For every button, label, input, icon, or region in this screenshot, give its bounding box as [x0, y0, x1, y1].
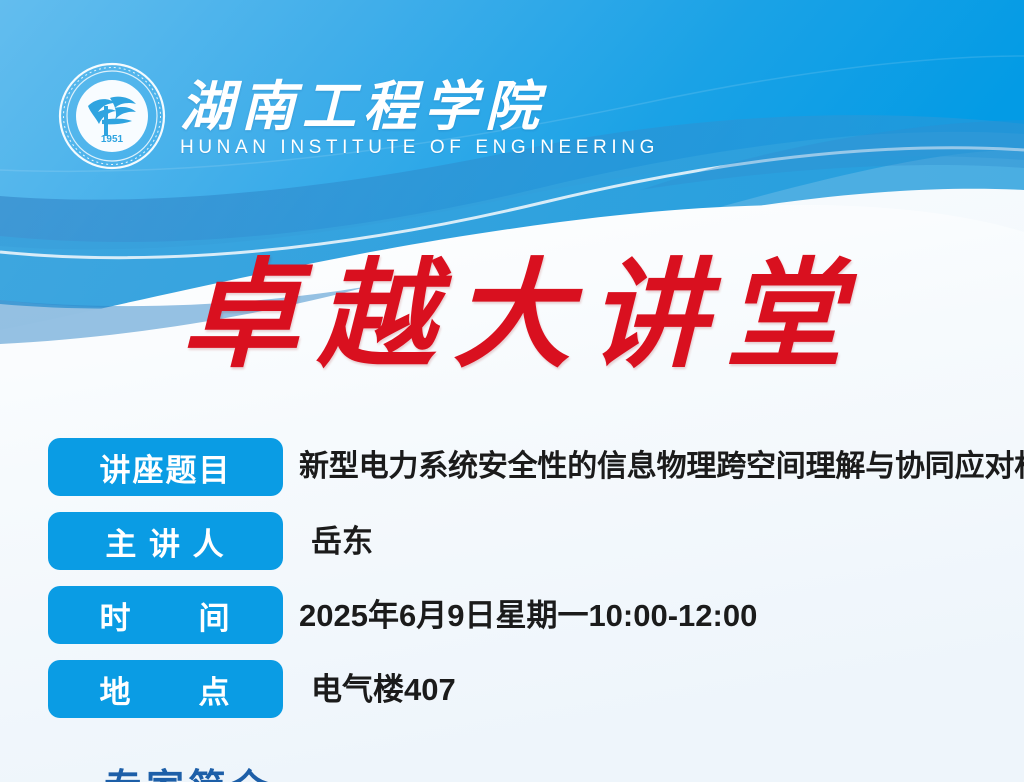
value-location: 电气楼407 [299, 674, 456, 705]
info-row-topic: 讲座题目 新型电力系统安全性的信息物理跨空间理解与协同应对机制 [48, 438, 1008, 496]
label-badge-topic: 讲座题目 [48, 438, 283, 496]
lecture-info-list: 讲座题目 新型电力系统安全性的信息物理跨空间理解与协同应对机制 主 讲 人 岳东… [48, 438, 1008, 718]
section-heading-expert-bio: 专家简介 [104, 757, 272, 782]
label-badge-time: 时 间 [48, 586, 283, 644]
info-row-speaker: 主 讲 人 岳东 [48, 512, 1008, 570]
label-badge-location: 地 点 [48, 660, 283, 718]
info-row-time: 时 间 2025年6月9日星期一10:00-12:00 [48, 586, 1008, 644]
school-name-cn: 湖南工程学院 [180, 79, 659, 136]
poster-header: 1951 湖南工程学院 HUNAN INSTITUTE OF ENGINEERI… [58, 62, 659, 170]
school-name-block: 湖南工程学院 HUNAN INSTITUTE OF ENGINEERING [180, 73, 659, 159]
value-speaker: 岳东 [299, 526, 373, 557]
lecture-poster: 1951 湖南工程学院 HUNAN INSTITUTE OF ENGINEERI… [0, 0, 1024, 782]
page-title: 卓越大讲堂 [0, 247, 1024, 386]
value-time: 2025年6月9日星期一10:00-12:00 [299, 600, 757, 631]
info-row-location: 地 点 电气楼407 [48, 660, 1008, 718]
value-topic: 新型电力系统安全性的信息物理跨空间理解与协同应对机制 [299, 452, 1024, 482]
label-badge-speaker: 主 讲 人 [48, 512, 283, 570]
emblem-year: 1951 [101, 134, 124, 145]
school-name-en: HUNAN INSTITUTE OF ENGINEERING [180, 138, 659, 159]
university-emblem-icon: 1951 [58, 62, 166, 170]
